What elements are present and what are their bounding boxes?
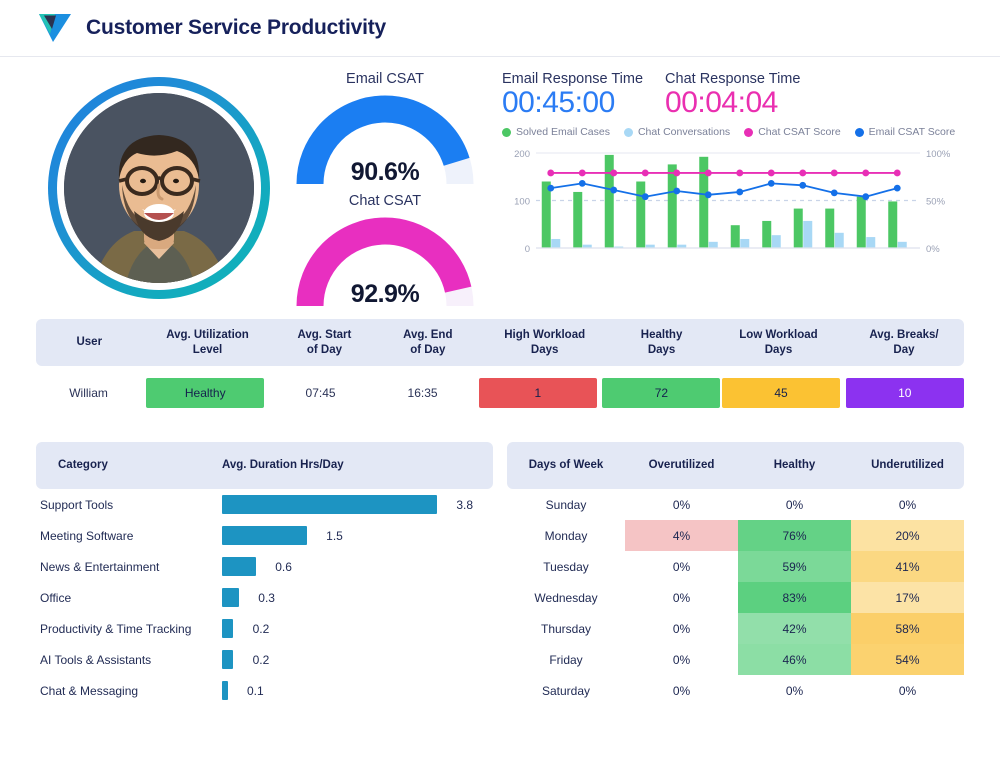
cell-underutilized: 54% [851,644,964,675]
header-line: Avg. Breaks/ [869,329,938,341]
cell-category: Office [36,591,222,605]
gauge-arc-email: 90.6% [290,90,480,189]
cell-category: Productivity & Time Tracking [36,622,222,636]
cell-duration-value: 0.2 [233,622,275,636]
metric-chat-response-time: Chat Response Time 00:04:04 [665,71,800,120]
app-header: Customer Service Productivity [0,0,1000,57]
metric-value: 00:04:04 [665,86,800,120]
table-header-row: Days of Week Overutilized Healthy Underu… [507,442,964,489]
cell-healthy: 76% [738,520,851,551]
cell-high-workload-days: 1 [473,378,602,408]
legend-item-email-csat-score[interactable]: Email CSAT Score [855,126,956,138]
cell-start-of-day: 07:45 [269,386,371,400]
header-line: Low Workload [739,329,817,341]
header-line: Day [893,344,914,356]
column-header-days-of-week: Days of Week [507,458,625,472]
cell-duration-bar: 0.6 [222,551,493,582]
cell-overutilized: 0% [625,675,738,706]
table-row[interactable]: Office0.3 [36,582,493,613]
cell-end-of-day: 16:35 [372,386,474,400]
column-header-end-of-day: Avg. Endof Day [376,328,479,357]
duration-bar [222,650,233,669]
dashboard-bottom-row: Category Avg. Duration Hrs/Day Support T… [0,442,1000,706]
heatmap-rows: Sunday0%0%0%Monday4%76%20%Tuesday0%59%41… [507,489,964,706]
column-header-start-of-day: Avg. Startof Day [273,328,377,357]
cell-category: Meeting Software [36,529,222,543]
cell-healthy: 0% [738,489,851,520]
cell-duration-bar: 0.1 [222,675,493,706]
cell-healthy: 83% [738,582,851,613]
table-row[interactable]: Sunday0%0%0% [507,489,964,520]
table-row[interactable]: Support Tools3.8 [36,489,493,520]
cell-day: Wednesday [507,582,625,613]
table-row[interactable]: Chat & Messaging0.1 [36,675,493,706]
cell-healthy-days: 72 [602,378,716,408]
cell-duration-bar: 1.5 [222,520,493,551]
cell-healthy: 46% [738,644,851,675]
cell-duration-value: 0.3 [239,591,281,605]
gauge-chat-csat: Chat CSAT 92.9% [282,193,488,311]
legend-color-dot [624,128,633,137]
cell-utilization: Healthy [141,378,269,408]
cell-overutilized: 0% [625,489,738,520]
legend-label: Email CSAT Score [869,126,956,138]
cell-day: Tuesday [507,551,625,582]
header-line: High Workload [504,329,585,341]
cell-duration-value: 1.5 [307,529,349,543]
cell-underutilized: 0% [851,675,964,706]
cell-category: Chat & Messaging [36,684,222,698]
column-header-healthy-days: HealthyDays [610,328,713,357]
table-row[interactable]: AI Tools & Assistants0.2 [36,644,493,675]
legend-item-solved-email-cases[interactable]: Solved Email Cases [502,126,610,138]
table-header-row: Category Avg. Duration Hrs/Day [36,442,493,489]
header-line: User [76,336,102,348]
svg-text:0: 0 [525,244,530,255]
user-summary-table: User Avg. UtilizationLevel Avg. Startof … [0,319,1000,420]
cell-duration-value: 0.6 [256,560,298,574]
category-duration-table: Category Avg. Duration Hrs/Day Support T… [36,442,493,706]
status-badge: Healthy [146,378,264,408]
svg-text:100: 100 [514,197,530,208]
dashboard-top-row: Email CSAT 90.6% Chat CSAT 92.9% [0,57,1000,307]
table-row[interactable]: Meeting Software1.5 [36,520,493,551]
cell-healthy: 0% [738,675,851,706]
header-line: Level [193,344,222,356]
header-line: of Day [410,344,445,356]
cell-duration-bar: 0.2 [222,644,493,675]
gauge-value: 92.9% [290,280,480,309]
triangle-play-logo-icon [38,12,72,44]
header-line: Avg. End [403,329,452,341]
table-row[interactable]: Thursday0%42%58% [507,613,964,644]
header-line: of Day [307,344,342,356]
legend-label: Solved Email Cases [516,126,610,138]
table-row[interactable]: Wednesday0%83%17% [507,582,964,613]
table-row[interactable]: Saturday0%0%0% [507,675,964,706]
legend-label: Chat CSAT Score [758,126,840,138]
metric-email-response-time: Email Response Time 00:45:00 [502,71,643,120]
cell-underutilized: 20% [851,520,964,551]
cell-duration-bar: 3.8 [222,489,493,520]
status-badge: 45 [722,378,840,408]
header-line: Days [648,344,676,356]
status-badge: 10 [846,378,964,408]
legend-label: Chat Conversations [638,126,730,138]
column-header-overutilized: Overutilized [625,458,738,472]
cell-underutilized: 17% [851,582,964,613]
avatar-ring [48,77,270,299]
column-header-utilization: Avg. UtilizationLevel [143,328,273,357]
svg-text:200: 200 [514,149,530,160]
cell-user: William [36,386,141,400]
column-header-underutilized: Underutilized [851,458,964,472]
cell-overutilized: 0% [625,582,738,613]
cell-duration-bar: 0.3 [222,582,493,613]
avatar-ring-gap [57,86,261,290]
column-header-healthy: Healthy [738,458,851,472]
cell-overutilized: 4% [625,520,738,551]
cell-category: AI Tools & Assistants [36,653,222,667]
cell-healthy: 42% [738,613,851,644]
svg-text:100%: 100% [926,149,951,160]
legend-color-dot [502,128,511,137]
svg-text:50%: 50% [926,197,946,208]
duration-bar [222,526,307,545]
gauge-label: Chat CSAT [282,193,488,209]
metric-label: Email Response Time [502,71,643,87]
cell-avg-breaks: 10 [846,378,964,408]
cell-category: Support Tools [36,498,222,512]
cell-duration-value: 3.8 [437,498,479,512]
metric-label: Chat Response Time [665,71,800,87]
legend-color-dot [744,128,753,137]
response-time-metrics: Email Response Time 00:45:00 Chat Respon… [502,71,964,120]
legend-item-chat-conversations[interactable]: Chat Conversations [624,126,730,138]
avatar[interactable] [64,93,254,283]
column-header-user: User [36,335,143,349]
legend-item-chat-csat-score[interactable]: Chat CSAT Score [744,126,840,138]
duration-bar [222,557,256,576]
cell-overutilized: 0% [625,551,738,582]
cell-day: Monday [507,520,625,551]
gauge-label: Email CSAT [282,71,488,87]
header-line: Days [531,344,559,356]
duration-bar [222,619,233,638]
cell-underutilized: 58% [851,613,964,644]
column-header-avg-duration: Avg. Duration Hrs/Day [222,458,493,472]
days-of-week-table: Days of Week Overutilized Healthy Underu… [507,442,964,706]
page-title: Customer Service Productivity [86,16,386,40]
svg-text:0%: 0% [926,244,940,255]
header-line: Healthy [641,329,683,341]
cell-underutilized: 41% [851,551,964,582]
cell-day: Thursday [507,613,625,644]
duration-bar [222,495,437,514]
column-header-avg-breaks: Avg. Breaks/Day [844,328,964,357]
table-row[interactable]: Friday0%46%54% [507,644,964,675]
status-badge: 72 [602,378,720,408]
cell-category: News & Entertainment [36,560,222,574]
cell-overutilized: 0% [625,613,738,644]
cell-day: Saturday [507,675,625,706]
cell-low-workload-days: 45 [716,378,845,408]
gauge-email-csat: Email CSAT 90.6% [282,71,488,189]
column-header-category: Category [36,458,222,472]
column-header-low-workload-days: Low WorkloadDays [713,328,844,357]
table-row[interactable]: Tuesday0%59%41% [507,551,964,582]
duration-bar [222,588,239,607]
combo-chart[interactable]: 01002000%50%100% [502,143,964,271]
column-header-high-workload-days: High WorkloadDays [479,328,610,357]
header-line: Days [765,344,793,356]
metric-value: 00:45:00 [502,86,643,120]
cell-duration-value: 0.2 [233,653,275,667]
cell-underutilized: 0% [851,489,964,520]
cell-duration-value: 0.1 [228,684,270,698]
gauge-value: 90.6% [290,158,480,187]
status-badge: 1 [479,378,597,408]
response-chart-panel: Email Response Time 00:45:00 Chat Respon… [488,69,964,307]
gauge-arc-chat: 92.9% [290,212,480,311]
header-line: Avg. Utilization [166,329,249,341]
cell-overutilized: 0% [625,644,738,675]
cell-duration-bar: 0.2 [222,613,493,644]
cell-healthy: 59% [738,551,851,582]
category-rows: Support Tools3.8Meeting Software1.5News … [36,489,493,706]
table-row[interactable]: William Healthy 07:45 16:35 1 72 45 10 [36,366,964,420]
table-row[interactable]: Monday4%76%20% [507,520,964,551]
table-row[interactable]: News & Entertainment0.6 [36,551,493,582]
avatar-container [36,69,282,307]
header-line: Avg. Start [297,329,351,341]
cell-day: Friday [507,644,625,675]
chart-legend: Solved Email Cases Chat Conversations Ch… [502,126,964,138]
cell-day: Sunday [507,489,625,520]
table-header-row: User Avg. UtilizationLevel Avg. Startof … [36,319,964,366]
csat-gauges: Email CSAT 90.6% Chat CSAT 92.9% [282,69,488,307]
table-row[interactable]: Productivity & Time Tracking0.2 [36,613,493,644]
legend-color-dot [855,128,864,137]
